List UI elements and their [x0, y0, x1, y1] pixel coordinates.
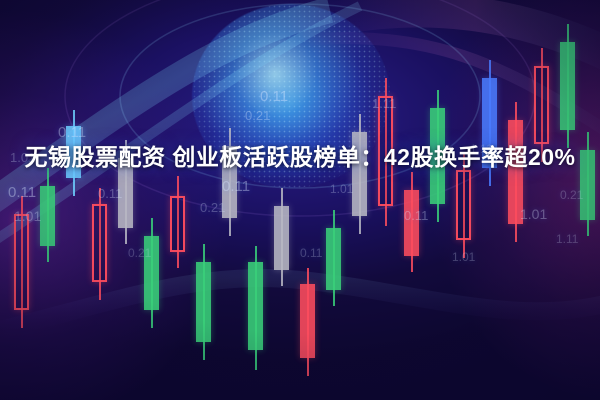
vignette-overlay — [0, 0, 600, 400]
stock-banner-image: 0.110.211.110.111.010.111.010.110.210.11… — [0, 0, 600, 400]
headline-text: 无锡股票配资 创业板活跃股榜单：42股换手率超20% — [0, 140, 600, 174]
